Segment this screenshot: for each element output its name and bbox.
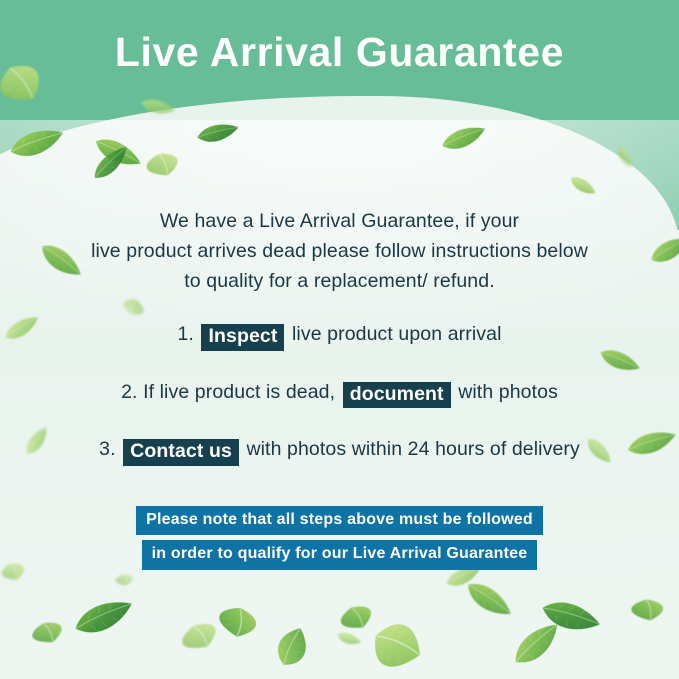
content-area: We have a Live Arrival Guarantee, if you… <box>0 206 679 570</box>
step-1-number: 1. <box>177 323 193 345</box>
step-2-highlight-document[interactable]: document <box>343 382 451 409</box>
intro-line-2: live product arrives dead please follow … <box>60 236 619 266</box>
intro-line-1: We have a Live Arrival Guarantee, if you… <box>60 206 619 236</box>
steps-list: 1. Inspect live product upon arrival 2. … <box>0 322 679 464</box>
step-3-text-after: with photos within 24 hours of delivery <box>246 438 579 460</box>
live-arrival-guarantee-poster: Live Arrival Guarantee We have a Live Ar… <box>0 0 679 679</box>
note-line-2: in order to qualify for our Live Arrival… <box>142 540 538 570</box>
step-3-highlight-contact-us[interactable]: Contact us <box>123 439 239 466</box>
step-2-text-before: If live product is dead, <box>143 381 335 403</box>
note-banner: Please note that all steps above must be… <box>0 506 679 571</box>
step-3-number: 3. <box>99 438 115 460</box>
step-1-text-after: live product upon arrival <box>292 323 502 345</box>
step-1-highlight-inspect[interactable]: Inspect <box>201 324 284 351</box>
step-item-2: 2. If live product is dead, document wit… <box>0 380 679 407</box>
page-title: Live Arrival Guarantee <box>0 30 679 75</box>
step-2-number: 2. <box>121 381 137 403</box>
step-item-1: 1. Inspect live product upon arrival <box>0 322 679 349</box>
note-line-1: Please note that all steps above must be… <box>136 506 543 536</box>
intro-paragraph: We have a Live Arrival Guarantee, if you… <box>0 206 679 296</box>
step-item-3: 3. Contact us with photos within 24 hour… <box>0 437 679 464</box>
intro-line-3: to quality for a replacement/ refund. <box>60 266 619 296</box>
step-2-text-after: with photos <box>458 381 558 403</box>
